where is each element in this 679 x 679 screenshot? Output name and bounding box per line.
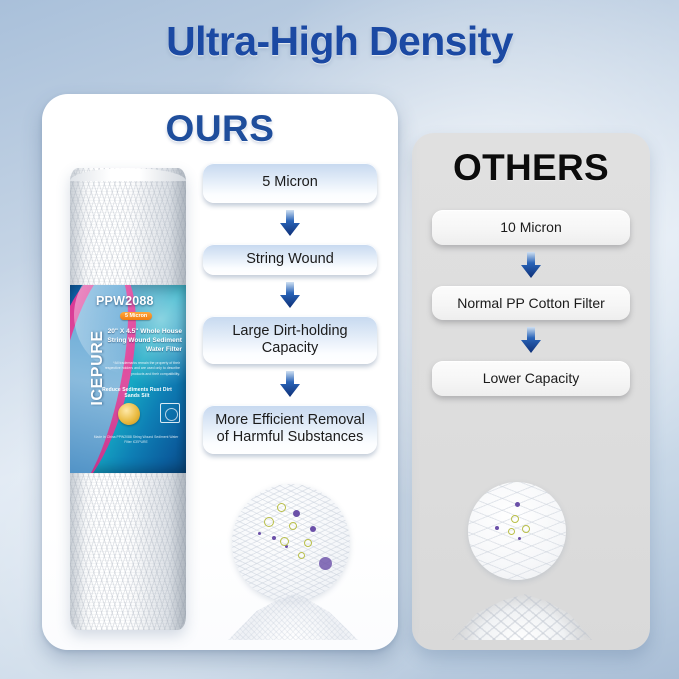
page-title: Ultra-High Density	[0, 18, 679, 65]
down-arrow-icon	[279, 282, 301, 309]
product-footer-text: Made in China PPW2088 String Wound Sedim…	[92, 435, 180, 446]
down-arrow-icon	[520, 252, 542, 279]
down-arrow-icon	[520, 327, 542, 354]
others-step-2: Normal PP Cotton Filter	[432, 286, 630, 321]
down-arrow-icon	[279, 371, 301, 398]
ours-step-3: Large Dirt-holding Capacity	[203, 316, 377, 364]
product-fine-print: *All trademarks remain the property of t…	[100, 361, 180, 377]
comparison-infographic: Ultra-High Density OURS OTHERS ICEPURE P…	[0, 0, 679, 679]
ours-step-2: String Wound	[203, 244, 377, 275]
mesh-disc	[468, 482, 566, 580]
micron-badge: 5 Micron	[120, 312, 152, 320]
others-flow-list: 10 Micron Normal PP Cotton Filter Lower …	[432, 210, 630, 396]
others-step-1: 10 Micron	[432, 210, 630, 245]
down-arrow-icon	[279, 210, 301, 237]
model-number: PPW2088	[96, 294, 154, 308]
ours-step-4: More Efficient Removal of Harmful Substa…	[203, 405, 377, 453]
filter-cartridge-image: ICEPURE PPW2088 5 Micron 20" X 4.5" Whol…	[70, 168, 186, 630]
others-magnified-mesh-icon	[468, 482, 566, 580]
product-subtitle: Reduce Sediments Rust Dirt Sands Silt	[94, 387, 180, 399]
ours-magnified-mesh-icon	[232, 484, 350, 602]
certification-icon	[160, 403, 180, 423]
mesh-disc	[232, 484, 350, 602]
gold-seal-icon	[118, 403, 140, 425]
ours-step-1: 5 Micron	[203, 163, 377, 203]
product-description: 20" X 4.5" Whole House String Wound Sedi…	[100, 327, 182, 354]
others-heading: OTHERS	[412, 147, 650, 189]
ours-flow-list: 5 Micron String Wound Large Dirt-holding…	[203, 163, 377, 454]
ours-heading: OURS	[42, 108, 398, 150]
others-step-3: Lower Capacity	[432, 361, 630, 396]
product-label: ICEPURE PPW2088 5 Micron 20" X 4.5" Whol…	[70, 285, 186, 473]
